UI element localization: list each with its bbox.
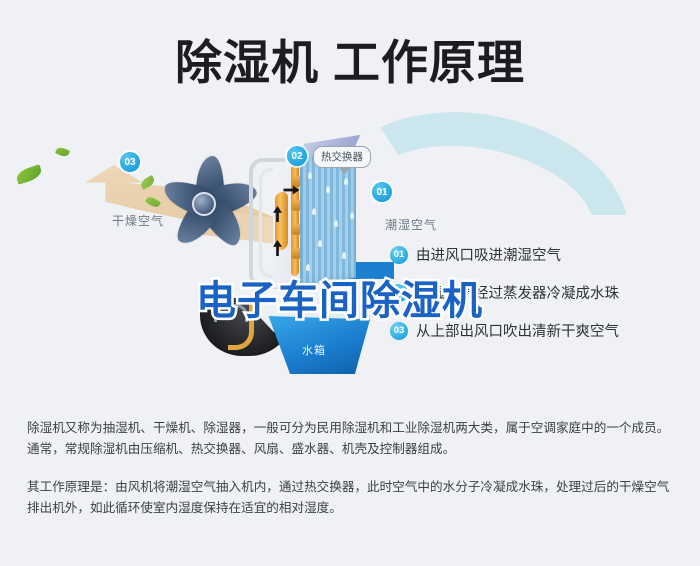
dry-air-label: 干燥空气 — [112, 212, 164, 229]
step-text: 由进风口吸进潮湿空气 — [416, 244, 561, 265]
leaf-icon — [55, 146, 70, 159]
water-droplet-icon — [308, 172, 312, 179]
page-title-part2: 工作原理 — [333, 36, 525, 89]
page-title: 除湿机工作原理 — [0, 24, 700, 93]
badge-01: 01 — [372, 182, 392, 202]
paragraph-2: 其工作原理是：由风机将潮湿空气抽入机内，通过热交换器，此时空气中的水分子冷凝成水… — [27, 477, 675, 519]
paragraph-1: 除湿机又称为抽湿机、干燥机、除湿器，一般可分为民用除湿机和工业除湿机两大类，属于… — [27, 418, 675, 460]
humid-air-label: 潮湿空气 — [385, 216, 437, 233]
heat-exchanger-label: 热交换器 — [313, 146, 371, 168]
water-droplet-icon — [318, 240, 322, 247]
list-item: 01 由进风口吸进潮湿空气 — [390, 244, 619, 265]
water-droplet-icon — [342, 252, 346, 259]
water-droplet-icon — [312, 208, 316, 215]
watermark-text: 电子车间除湿机 — [196, 268, 483, 326]
description-text: 除湿机又称为抽湿机、干燥机、除湿器，一般可分为民用除湿机和工业除湿机两大类，属于… — [27, 418, 675, 536]
water-droplet-icon — [326, 186, 330, 193]
page-title-part1: 除湿机 — [175, 36, 319, 89]
water-tank-label: 水箱 — [302, 342, 326, 358]
badge-02: 02 — [287, 146, 307, 166]
infographic-page: 除湿机工作原理 — [0, 0, 700, 566]
leaf-icon — [15, 164, 44, 184]
water-droplet-icon — [334, 220, 338, 227]
fan-hub — [192, 192, 216, 216]
badge-03: 03 — [120, 152, 140, 172]
step-badge: 01 — [390, 246, 408, 264]
fan-propeller-icon — [150, 150, 258, 258]
water-droplet-icon — [350, 212, 354, 219]
